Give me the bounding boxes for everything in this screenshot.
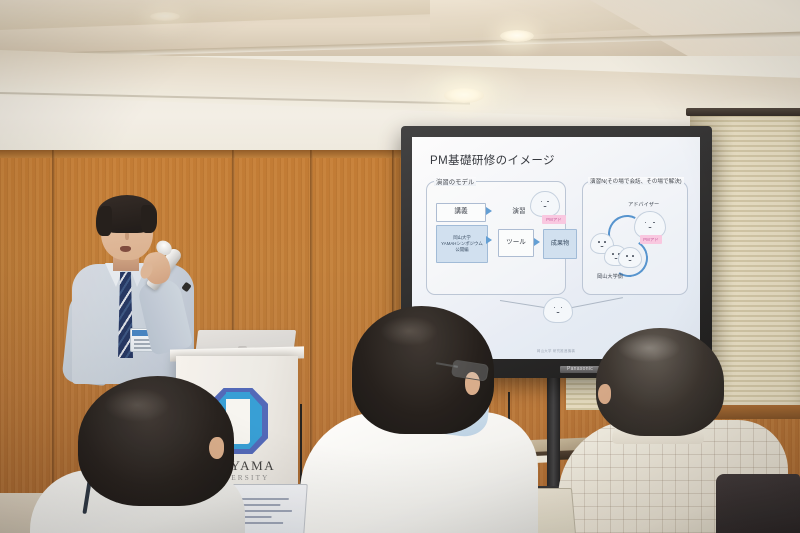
display-brand-logo: Panasonic xyxy=(560,366,600,373)
speaker-hair-side xyxy=(141,205,157,233)
caption-okayama-side: 岡山大学側 xyxy=(597,273,623,280)
arrow-icon xyxy=(486,207,492,215)
tag-pm-advisor-left: PMアド xyxy=(542,215,566,224)
left-panel-label: 演習のモデル xyxy=(434,177,476,186)
audience-left-hair-highlight xyxy=(104,388,170,422)
caption-advisor: アドバイザー xyxy=(628,201,659,208)
box-output: 成果物 xyxy=(543,229,577,259)
display-stand-post xyxy=(547,378,560,490)
slide-footer: 岡山大学 研究推進機構 xyxy=(537,348,575,353)
presentation-room-photo: Panasonic PM基礎研修のイメージ 演習のモデル 講義 演習 岡山大学 … xyxy=(0,0,800,533)
mascot-character xyxy=(530,191,560,217)
arrow-icon xyxy=(534,238,540,246)
arrow-icon xyxy=(486,236,492,244)
speaker-nose xyxy=(125,232,129,240)
audience-chair xyxy=(716,474,800,533)
speaker-hair-side xyxy=(96,206,112,236)
box-lecture: 講義 xyxy=(436,203,486,222)
mascot-staff xyxy=(618,247,642,268)
audience-left-ear xyxy=(209,437,224,459)
speaker-mouth xyxy=(120,246,131,252)
right-panel-label: 演習N(その場で会話、その場で解決) xyxy=(588,177,684,185)
box-tool: ツール xyxy=(498,229,534,257)
wood-panel-seam xyxy=(52,150,55,533)
mascot-bottom xyxy=(543,297,573,323)
ceiling-downlight xyxy=(500,30,534,42)
audience-right-hair-highlight xyxy=(618,334,680,362)
audience-center-hair-highlight xyxy=(380,316,438,346)
slide-title: PM基礎研修のイメージ xyxy=(430,152,555,168)
audience-right-ear xyxy=(598,384,611,404)
ceiling-downlight xyxy=(444,88,484,103)
ceiling-downlight xyxy=(150,12,180,21)
blinds-headrail xyxy=(686,108,800,116)
box-source: 岡山大学 YAMAHシンポジウム 公開編 xyxy=(436,225,488,263)
tag-pm-advisor-right: PMアド xyxy=(640,235,662,244)
